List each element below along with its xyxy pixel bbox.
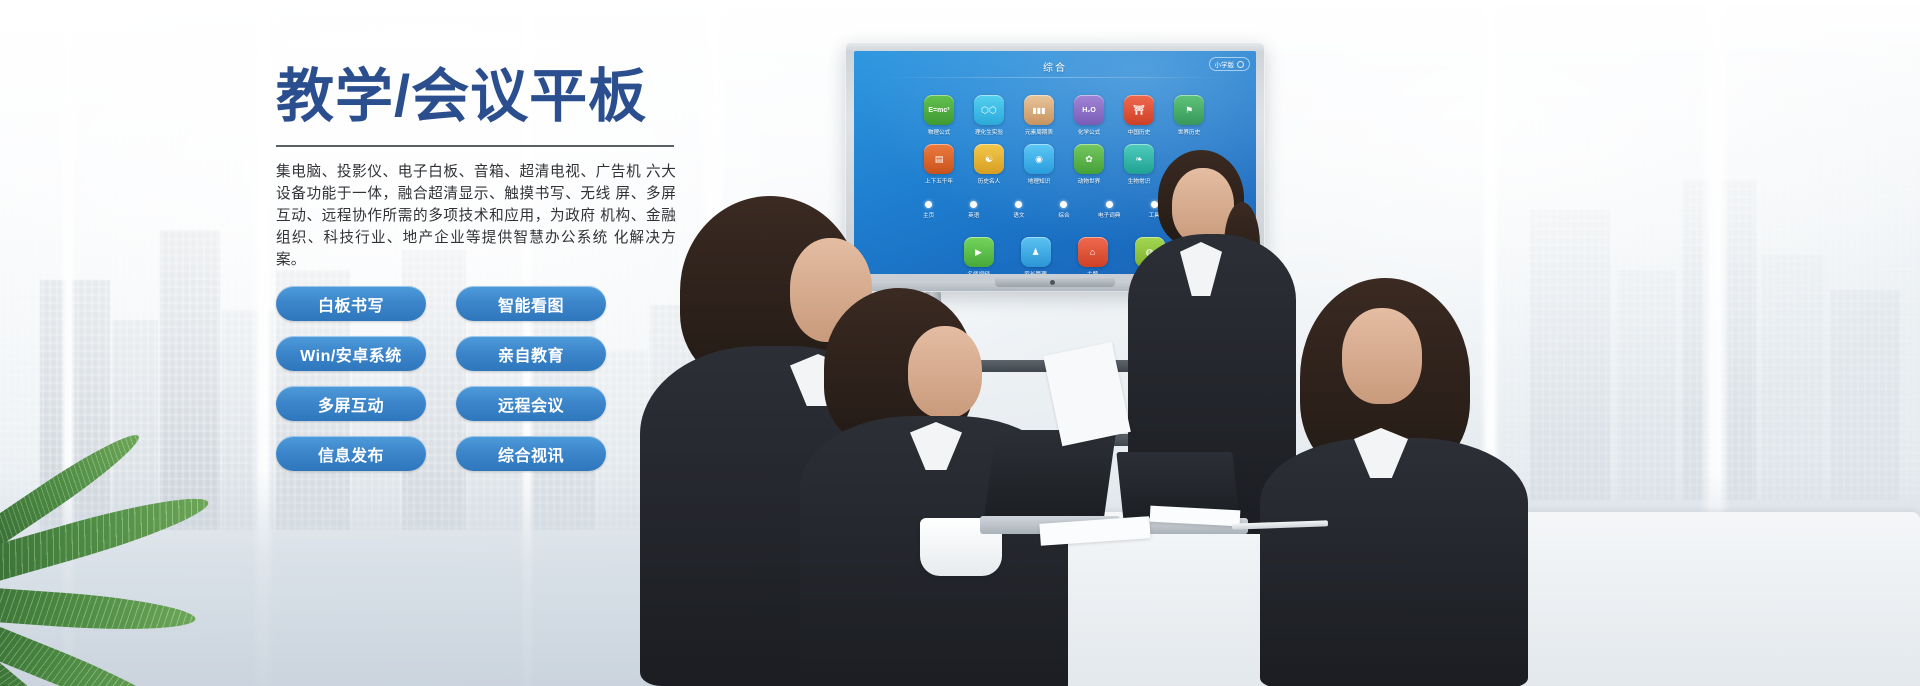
app-periodic-table[interactable]: ▮▮▮ 元素周期表 [1014, 95, 1064, 136]
app-animal-world[interactable]: ✿ 动物世界 [1064, 144, 1114, 185]
dock-app-parent-control[interactable]: ♟ 家长管理 [1007, 237, 1064, 274]
banner-description: 集电脑、投影仪、电子白板、音箱、超清电视、广告机 六大设备功能于一体，融合超清显… [276, 161, 676, 271]
app-icon-grid: E=mc² 物理公式 ⬡⬡ 理化生实验 ▮▮▮ 元素周期表 H₂O 化学公式 [914, 95, 1214, 185]
nav-dot-icon [925, 201, 932, 208]
screen-dock: ▶ 名师视频 ♟ 家长管理 ⌂ 主题 ◍ 绿色上网 [950, 237, 1178, 274]
app-china-history[interactable]: ⛩ 中国历史 [1114, 95, 1164, 136]
banner-copy: 教学/会议平板 集电脑、投影仪、电子白板、音箱、超清电视、广告机 六大设备功能于… [276, 66, 696, 271]
dock-app-green-internet[interactable]: ◍ 绿色上网 [1121, 237, 1178, 274]
app-label: 绿色上网 [1138, 270, 1160, 274]
nav-dot-icon [1151, 201, 1158, 208]
panel-speaker-bar [995, 278, 1115, 287]
five-thousand-years-icon: ▤ [924, 144, 954, 174]
app-label: 元素周期表 [1025, 128, 1053, 136]
world-history-icon: ⚑ [1174, 95, 1204, 125]
stand-leg [929, 372, 939, 490]
panel-screen[interactable]: 综合 小学版 E=mc² 物理公式 ⬡⬡ 理化生实验 [854, 51, 1256, 274]
feature-button-os[interactable]: Win/安卓系统 [276, 336, 426, 371]
app-biology-basics[interactable]: ❧ 生物常识 [1114, 144, 1164, 185]
panel-indicator-light [1050, 280, 1055, 285]
stand-shelf [901, 360, 1209, 372]
biology-basics-icon: ❧ [1124, 144, 1154, 174]
theme-icon: ⌂ [1078, 237, 1108, 267]
app-label: 动物世界 [1078, 177, 1100, 185]
chemistry-formula-icon: H₂O [1074, 95, 1104, 125]
nav-label: 电子词典 [1098, 211, 1120, 219]
dock-app-teacher-video[interactable]: ▶ 名师视频 [950, 237, 1007, 274]
nav-label: 英语 [968, 211, 979, 219]
stand-shelf [911, 434, 1199, 446]
feature-button-education[interactable]: 亲自教育 [456, 336, 606, 371]
title-divider [276, 145, 674, 147]
app-chemistry-formula[interactable]: H₂O 化学公式 [1064, 95, 1114, 136]
nav-label: 综合 [1058, 211, 1069, 219]
feature-button-info-publish[interactable]: 信息发布 [276, 436, 426, 471]
feature-button-remote-meeting[interactable]: 远程会议 [456, 386, 606, 421]
nav-item-tools[interactable]: 工具 [1132, 201, 1177, 219]
nav-item-dictionary[interactable]: 电子词典 [1087, 201, 1132, 219]
app-label: 主题 [1087, 270, 1098, 274]
animal-world-icon: ✿ [1074, 144, 1104, 174]
app-label: 物理公式 [928, 128, 950, 136]
green-internet-icon: ◍ [1135, 237, 1165, 267]
app-world-history[interactable]: ⚑ 世界历史 [1164, 95, 1214, 136]
dock-app-theme[interactable]: ⌂ 主题 [1064, 237, 1121, 274]
nav-dot-icon [970, 201, 977, 208]
screen-edition-badge[interactable]: 小学版 [1209, 57, 1251, 71]
nav-label: 工具 [1149, 211, 1160, 219]
nav-label: 设置 [1194, 211, 1205, 219]
historical-figures-icon: ☯ [974, 144, 1004, 174]
screen-title: 综合 [854, 59, 1256, 74]
teacher-video-icon: ▶ [964, 237, 994, 267]
palm-frond [0, 586, 197, 636]
science-lab-icon: ⬡⬡ [974, 95, 1004, 125]
app-label: 中国历史 [1128, 128, 1150, 136]
edition-label: 小学版 [1215, 59, 1235, 69]
app-label: 上下五千年 [925, 177, 953, 185]
nav-dot-icon [1060, 201, 1067, 208]
app-label: 历史名人 [978, 177, 1000, 185]
screen-nav-row: 主页 英语 语文 综合 [906, 201, 1222, 219]
panel-bezel: 综合 小学版 E=mc² 物理公式 ⬡⬡ 理化生实验 [845, 42, 1265, 292]
power-icon[interactable] [1237, 61, 1244, 68]
palm-plant [0, 446, 290, 686]
stand-neck [925, 292, 941, 360]
app-label: 世界历史 [1178, 128, 1200, 136]
parent-control-icon: ♟ [1021, 237, 1051, 267]
nav-item-english[interactable]: 英语 [951, 201, 996, 219]
nav-item-chinese[interactable]: 语文 [996, 201, 1041, 219]
app-label: 家长管理 [1024, 270, 1046, 274]
page-title: 教学/会议平板 [276, 66, 696, 129]
feature-button-whiteboard[interactable]: 白板书写 [276, 286, 426, 321]
china-history-icon: ⛩ [1124, 95, 1154, 125]
stand-neck [1169, 292, 1185, 360]
feature-button-video-conf[interactable]: 综合视讯 [456, 436, 606, 471]
app-physics-formula[interactable]: E=mc² 物理公式 [914, 95, 964, 136]
nav-item-home[interactable]: 主页 [906, 201, 951, 219]
interactive-flat-panel: 综合 小学版 E=mc² 物理公式 ⬡⬡ 理化生实验 [845, 42, 1265, 292]
physics-formula-icon: E=mc² [924, 95, 954, 125]
app-label: 生物常识 [1128, 177, 1150, 185]
nav-dot-icon [1015, 201, 1022, 208]
app-label: 理化生实验 [975, 128, 1003, 136]
feature-button-smart-image[interactable]: 智能看图 [456, 286, 606, 321]
app-historical-figures[interactable]: ☯ 历史名人 [964, 144, 1014, 185]
app-label: 地理知识 [1028, 177, 1050, 185]
periodic-table-icon: ▮▮▮ [1024, 95, 1054, 125]
nav-label: 语文 [1013, 211, 1024, 219]
feature-button-multiscreen[interactable]: 多屏互动 [276, 386, 426, 421]
screen-divider [880, 77, 1230, 78]
nav-dot-icon [1106, 201, 1113, 208]
nav-item-settings[interactable]: 设置 [1177, 201, 1222, 219]
nav-dot-icon [1196, 201, 1203, 208]
feature-button-grid: 白板书写 智能看图 Win/安卓系统 亲自教育 多屏互动 远程会议 信息发布 综… [276, 286, 606, 471]
nav-item-general[interactable]: 综合 [1041, 201, 1086, 219]
nav-label: 主页 [923, 211, 934, 219]
app-label: 化学公式 [1078, 128, 1100, 136]
geography-icon: ◉ [1024, 144, 1054, 174]
app-five-thousand-years[interactable]: ▤ 上下五千年 [914, 144, 964, 185]
product-banner: 教学/会议平板 集电脑、投影仪、电子白板、音箱、超清电视、广告机 六大设备功能于… [0, 0, 1920, 686]
app-geography[interactable]: ◉ 地理知识 [1014, 144, 1064, 185]
stand-leg [1171, 372, 1181, 490]
app-science-lab[interactable]: ⬡⬡ 理化生实验 [964, 95, 1014, 136]
app-label: 名师视频 [967, 270, 989, 274]
